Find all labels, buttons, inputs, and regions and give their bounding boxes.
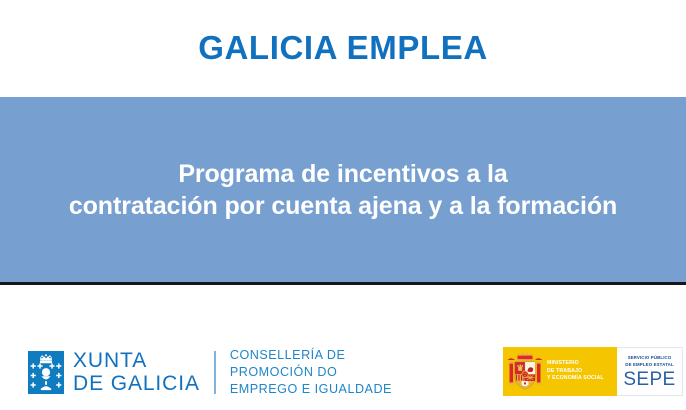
footer-zone: XUNTA DE GALICIA CONSELLERÍA DE PROMOCIÓ…	[0, 285, 686, 410]
spain-coat-of-arms-icon	[506, 351, 544, 393]
banner-line-1: Programa de incentivos a la	[69, 158, 617, 190]
consellaria-line-1: CONSELLERÍA DE	[230, 347, 392, 364]
consellaria-line-2: PROMOCIÓN DO	[230, 364, 392, 381]
government-logo-lockup: MINISTERIO DE TRABAJO Y ECONOMÍA SOCIAL …	[503, 347, 683, 396]
xunta-coat-of-arms-icon	[28, 351, 64, 394]
ministerio-line-3: Y ECONOMÍA SOCIAL	[547, 375, 604, 383]
sepe-tag-line-1: SERVICIO PÚBLICO	[625, 355, 673, 361]
page-title: GALICIA EMPLEA	[198, 31, 488, 64]
program-banner: Programa de incentivos a la contratación…	[0, 97, 686, 282]
sepe-acronym: SEPE	[623, 370, 675, 389]
sepe-tag-line-2: DE EMPLEO ESTATAL	[625, 362, 673, 368]
ministerio-line-1: MINISTERIO	[547, 360, 604, 368]
ministerio-de-trabajo-logo: MINISTERIO DE TRABAJO Y ECONOMÍA SOCIAL	[503, 347, 617, 396]
xunta-wordmark-line-2: DE GALICIA	[73, 373, 200, 395]
header-zone: GALICIA EMPLEA	[0, 0, 686, 97]
xunta-de-galicia-logo: XUNTA DE GALICIA CONSELLERÍA DE PROMOCIÓ…	[28, 347, 392, 398]
consellaria-name: CONSELLERÍA DE PROMOCIÓN DO EMPREGO E IG…	[230, 347, 392, 398]
sepe-tagline: SERVICIO PÚBLICO DE EMPLEO ESTATAL	[625, 355, 673, 368]
xunta-wordmark: XUNTA DE GALICIA	[73, 350, 200, 395]
banner-line-2: contratación por cuenta ajena y a la for…	[69, 190, 617, 222]
banner-text: Programa de incentivos a la contratación…	[69, 158, 617, 222]
xunta-wordmark-line-1: XUNTA	[73, 350, 200, 372]
ministerio-text: MINISTERIO DE TRABAJO Y ECONOMÍA SOCIAL	[547, 360, 604, 383]
logo-divider	[214, 351, 216, 394]
consellaria-line-3: EMPREGO E IGUALDADE	[230, 381, 392, 398]
sepe-logo: SERVICIO PÚBLICO DE EMPLEO ESTATAL SEPE	[617, 347, 683, 396]
